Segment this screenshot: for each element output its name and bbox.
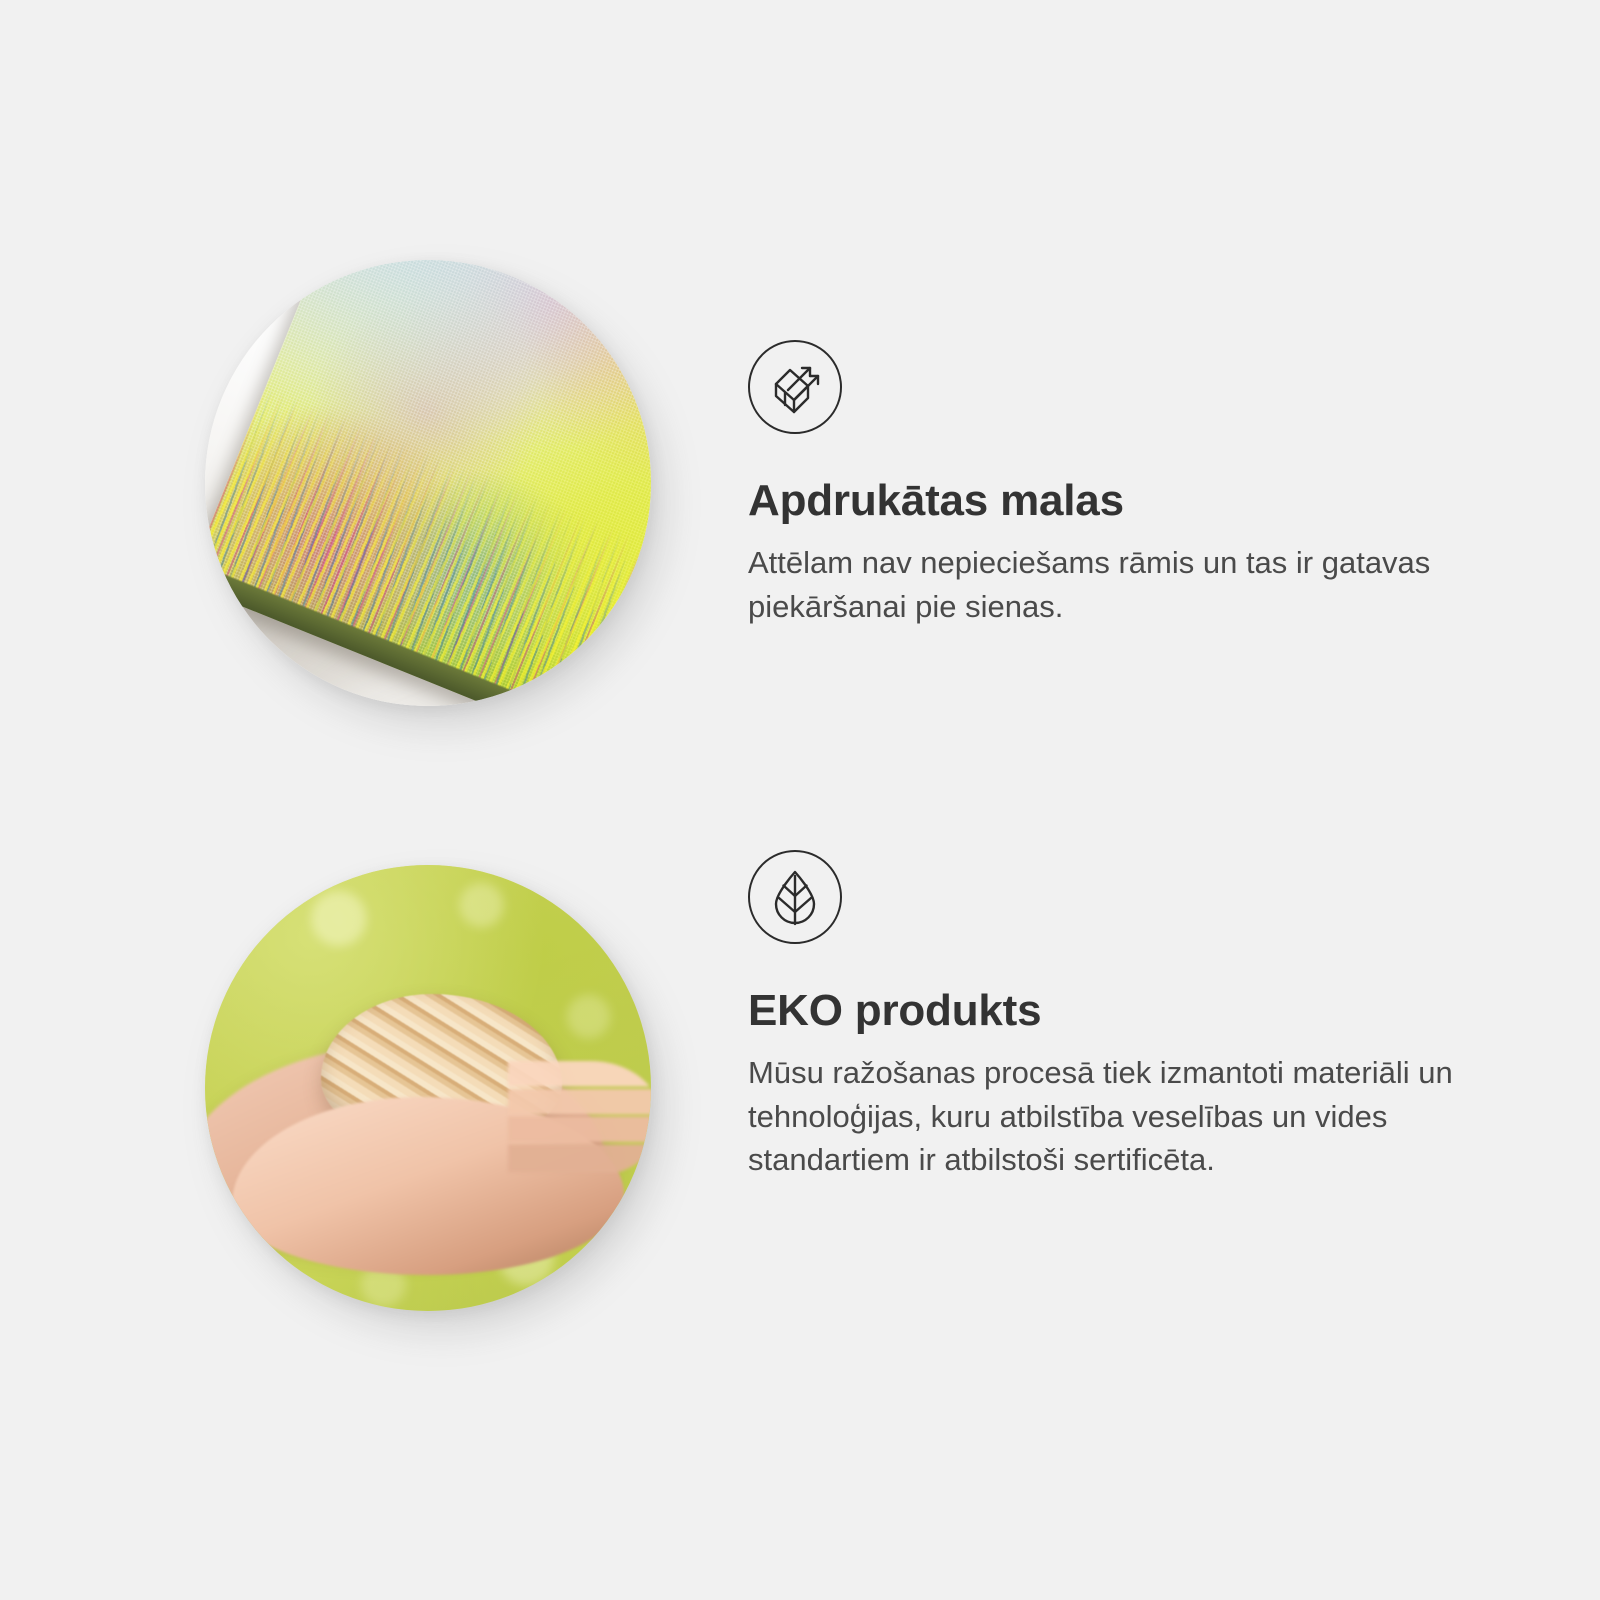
canvas-print-corner-photo <box>205 260 651 706</box>
feature-body-eco: Mūsu ražošanas procesā tiek izmantoti ma… <box>748 1051 1478 1181</box>
feature-highlights-page: Apdrukātas malas Attēlam nav nepieciešam… <box>0 0 1600 1600</box>
photo-background-wall <box>205 260 651 706</box>
wrapped-canvas-edges-glyph <box>764 356 826 418</box>
photo-inner <box>205 260 651 706</box>
photo-inner <box>205 865 651 1311</box>
wrapped-canvas-edges-icon <box>748 340 842 434</box>
feature-content-printed-edges: Apdrukātas malas Attēlam nav nepieciešam… <box>748 340 1488 628</box>
feature-title-eco: EKO produkts <box>748 986 1488 1035</box>
leaf-icon <box>748 850 842 944</box>
feature-body-printed-edges: Attēlam nav nepieciešams rāmis un tas ir… <box>748 541 1478 628</box>
feature-block-printed-edges: Apdrukātas malas Attēlam nav nepieciešam… <box>0 240 1600 740</box>
fingers <box>508 1061 651 1177</box>
photo-background-meadow <box>205 865 651 1311</box>
feature-content-eco: EKO produkts Mūsu ražošanas procesā tiek… <box>748 850 1488 1181</box>
leaf-glyph <box>765 867 825 927</box>
feature-title-printed-edges: Apdrukātas malas <box>748 476 1488 525</box>
hands-holding-wood-chips-photo <box>205 865 651 1311</box>
feature-block-eco: EKO produkts Mūsu ražošanas procesā tiek… <box>0 845 1600 1345</box>
